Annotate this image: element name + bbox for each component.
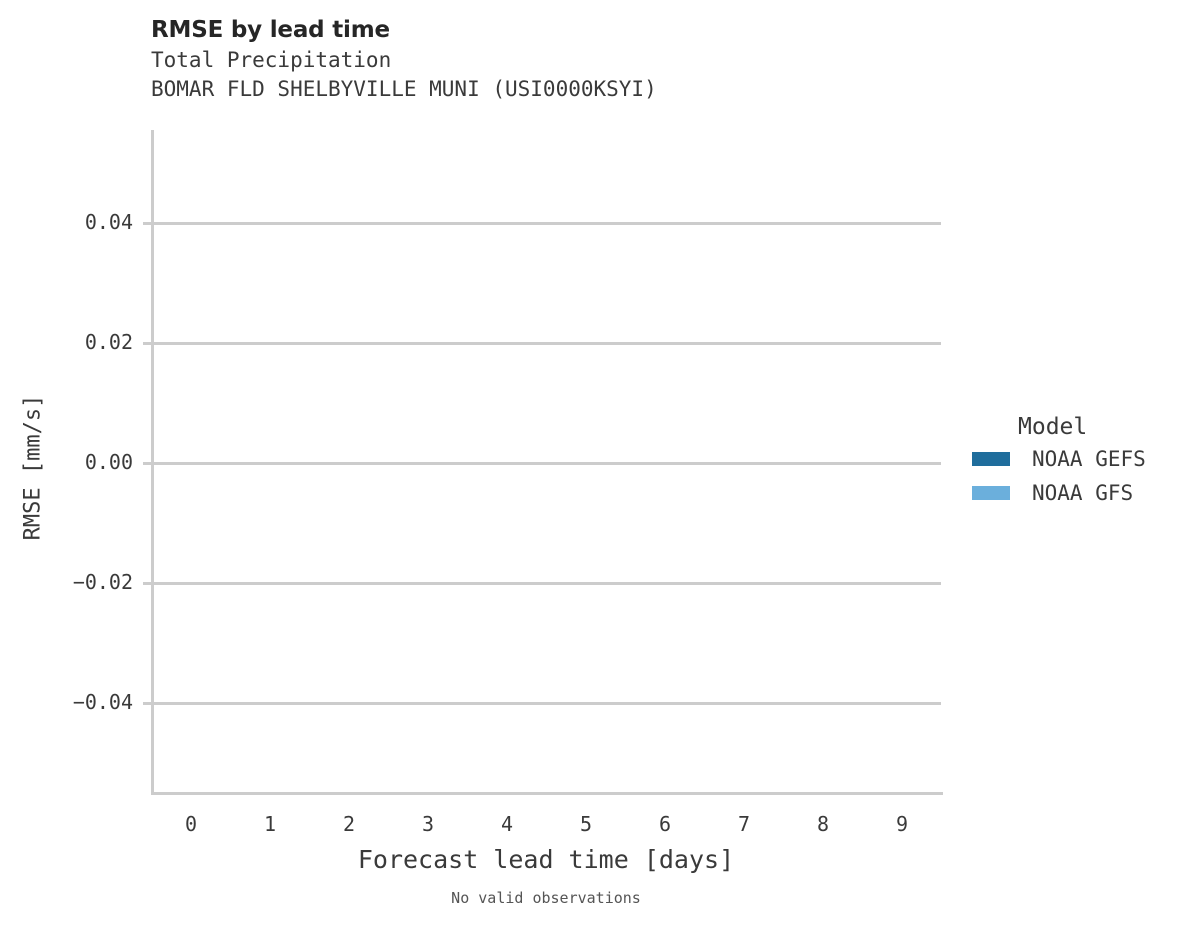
no-data-annotation: No valid observations bbox=[151, 889, 941, 907]
y-tick-mark bbox=[143, 222, 151, 225]
x-tick-label-0: 0 bbox=[185, 812, 197, 836]
x-tick-label-2: 2 bbox=[343, 812, 355, 836]
title-block: RMSE by lead time Total Precipitation BO… bbox=[151, 16, 971, 104]
legend-swatch-icon bbox=[972, 452, 1010, 466]
x-tick-label-4: 4 bbox=[501, 812, 513, 836]
y-tick-label-4: −0.04 bbox=[73, 690, 133, 714]
y-tick-label-3: −0.02 bbox=[73, 570, 133, 594]
y-tick-mark bbox=[143, 702, 151, 705]
y-tick-mark bbox=[143, 582, 151, 585]
page-title: RMSE by lead time bbox=[151, 16, 971, 44]
legend-item-label: NOAA GEFS bbox=[1032, 447, 1146, 471]
legend-item-noaa-gfs[interactable]: NOAA GFS bbox=[972, 476, 1177, 510]
legend-item-label: NOAA GFS bbox=[1032, 481, 1133, 505]
plot-area bbox=[151, 130, 941, 793]
y-tick-label-0: 0.04 bbox=[85, 210, 133, 234]
x-tick-label-1: 1 bbox=[264, 812, 276, 836]
y-axis-title: RMSE [mm/s] bbox=[21, 248, 46, 688]
y-tick-label-1: 0.02 bbox=[85, 330, 133, 354]
legend-item-noaa-gefs[interactable]: NOAA GEFS bbox=[972, 442, 1177, 476]
chart-subtitle-variable: Total Precipitation bbox=[151, 46, 971, 75]
x-tick-label-8: 8 bbox=[817, 812, 829, 836]
x-tick-label-7: 7 bbox=[738, 812, 750, 836]
legend: Model NOAA GEFS NOAA GFS bbox=[972, 412, 1177, 510]
x-tick-label-5: 5 bbox=[580, 812, 592, 836]
x-tick-label-3: 3 bbox=[422, 812, 434, 836]
y-tick-mark bbox=[143, 342, 151, 345]
y-tick-label-2: 0.00 bbox=[85, 450, 133, 474]
x-tick-label-9: 9 bbox=[896, 812, 908, 836]
legend-title: Model bbox=[1018, 412, 1177, 442]
x-tick-label-6: 6 bbox=[659, 812, 671, 836]
x-axis-title: Forecast lead time [days] bbox=[151, 845, 941, 874]
chart-subtitle-station: BOMAR FLD SHELBYVILLE MUNI (USI0000KSYI) bbox=[151, 75, 971, 104]
legend-swatch-icon bbox=[972, 486, 1010, 500]
y-tick-mark bbox=[143, 462, 151, 465]
